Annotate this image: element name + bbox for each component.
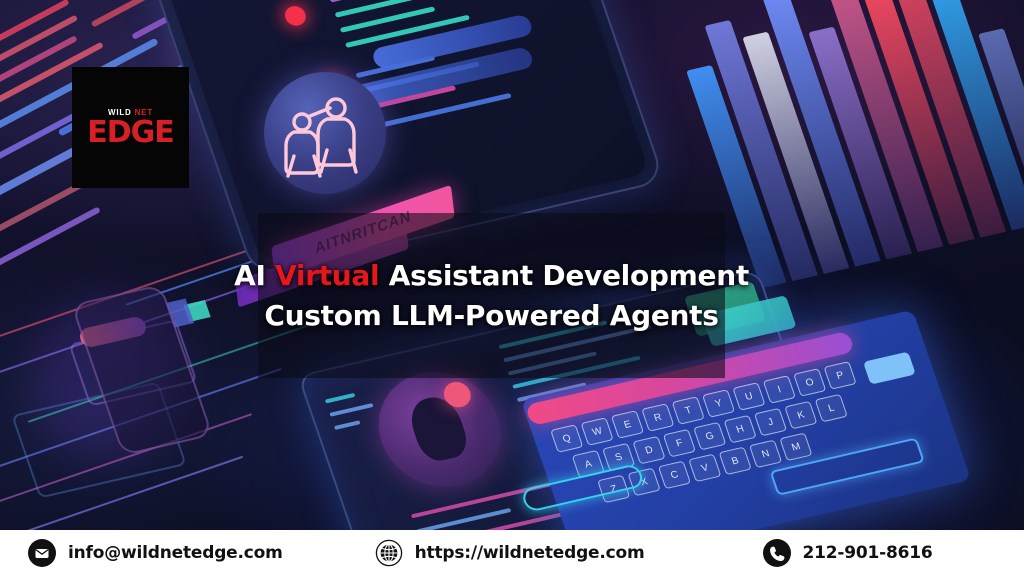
assistant-avatar-badge <box>264 72 386 194</box>
screen-line <box>329 403 373 417</box>
footer-contact-phone[interactable]: 212-901-8616 <box>763 539 933 567</box>
contact-footer: info@wildnetedge.com https://wildnetedge… <box>0 530 1024 576</box>
footer-contact-website[interactable]: https://wildnetedge.com <box>375 539 645 567</box>
screen-line <box>325 393 356 404</box>
envelope-icon <box>28 539 56 567</box>
headline-line-2: Custom LLM-Powered Agents <box>264 299 718 333</box>
headline-line-1: AI Virtual Assistant Development <box>234 259 749 293</box>
two-people-icon <box>264 72 386 194</box>
footer-website-text: https://wildnetedge.com <box>415 543 645 563</box>
footer-phone-text: 212-901-8616 <box>803 543 933 563</box>
promotional-banner: AITNRITCAN Q <box>0 0 1024 576</box>
screen-line <box>334 420 361 430</box>
headline-line1-part1: AI <box>234 259 275 292</box>
globe-icon <box>375 539 403 567</box>
brand-logo-edge: EDGE <box>87 118 174 148</box>
phone-icon <box>763 539 791 567</box>
headline-accent-word: Virtual <box>275 259 379 292</box>
headline-block: AI Virtual Assistant Development Custom … <box>258 213 725 378</box>
headline-line1-part2: Assistant Development <box>379 259 749 292</box>
footer-contact-email[interactable]: info@wildnetedge.com <box>28 539 283 567</box>
footer-email-text: info@wildnetedge.com <box>68 543 283 563</box>
person-avatar <box>363 360 517 498</box>
brand-logo[interactable]: WILD NET EDGE <box>72 67 189 188</box>
